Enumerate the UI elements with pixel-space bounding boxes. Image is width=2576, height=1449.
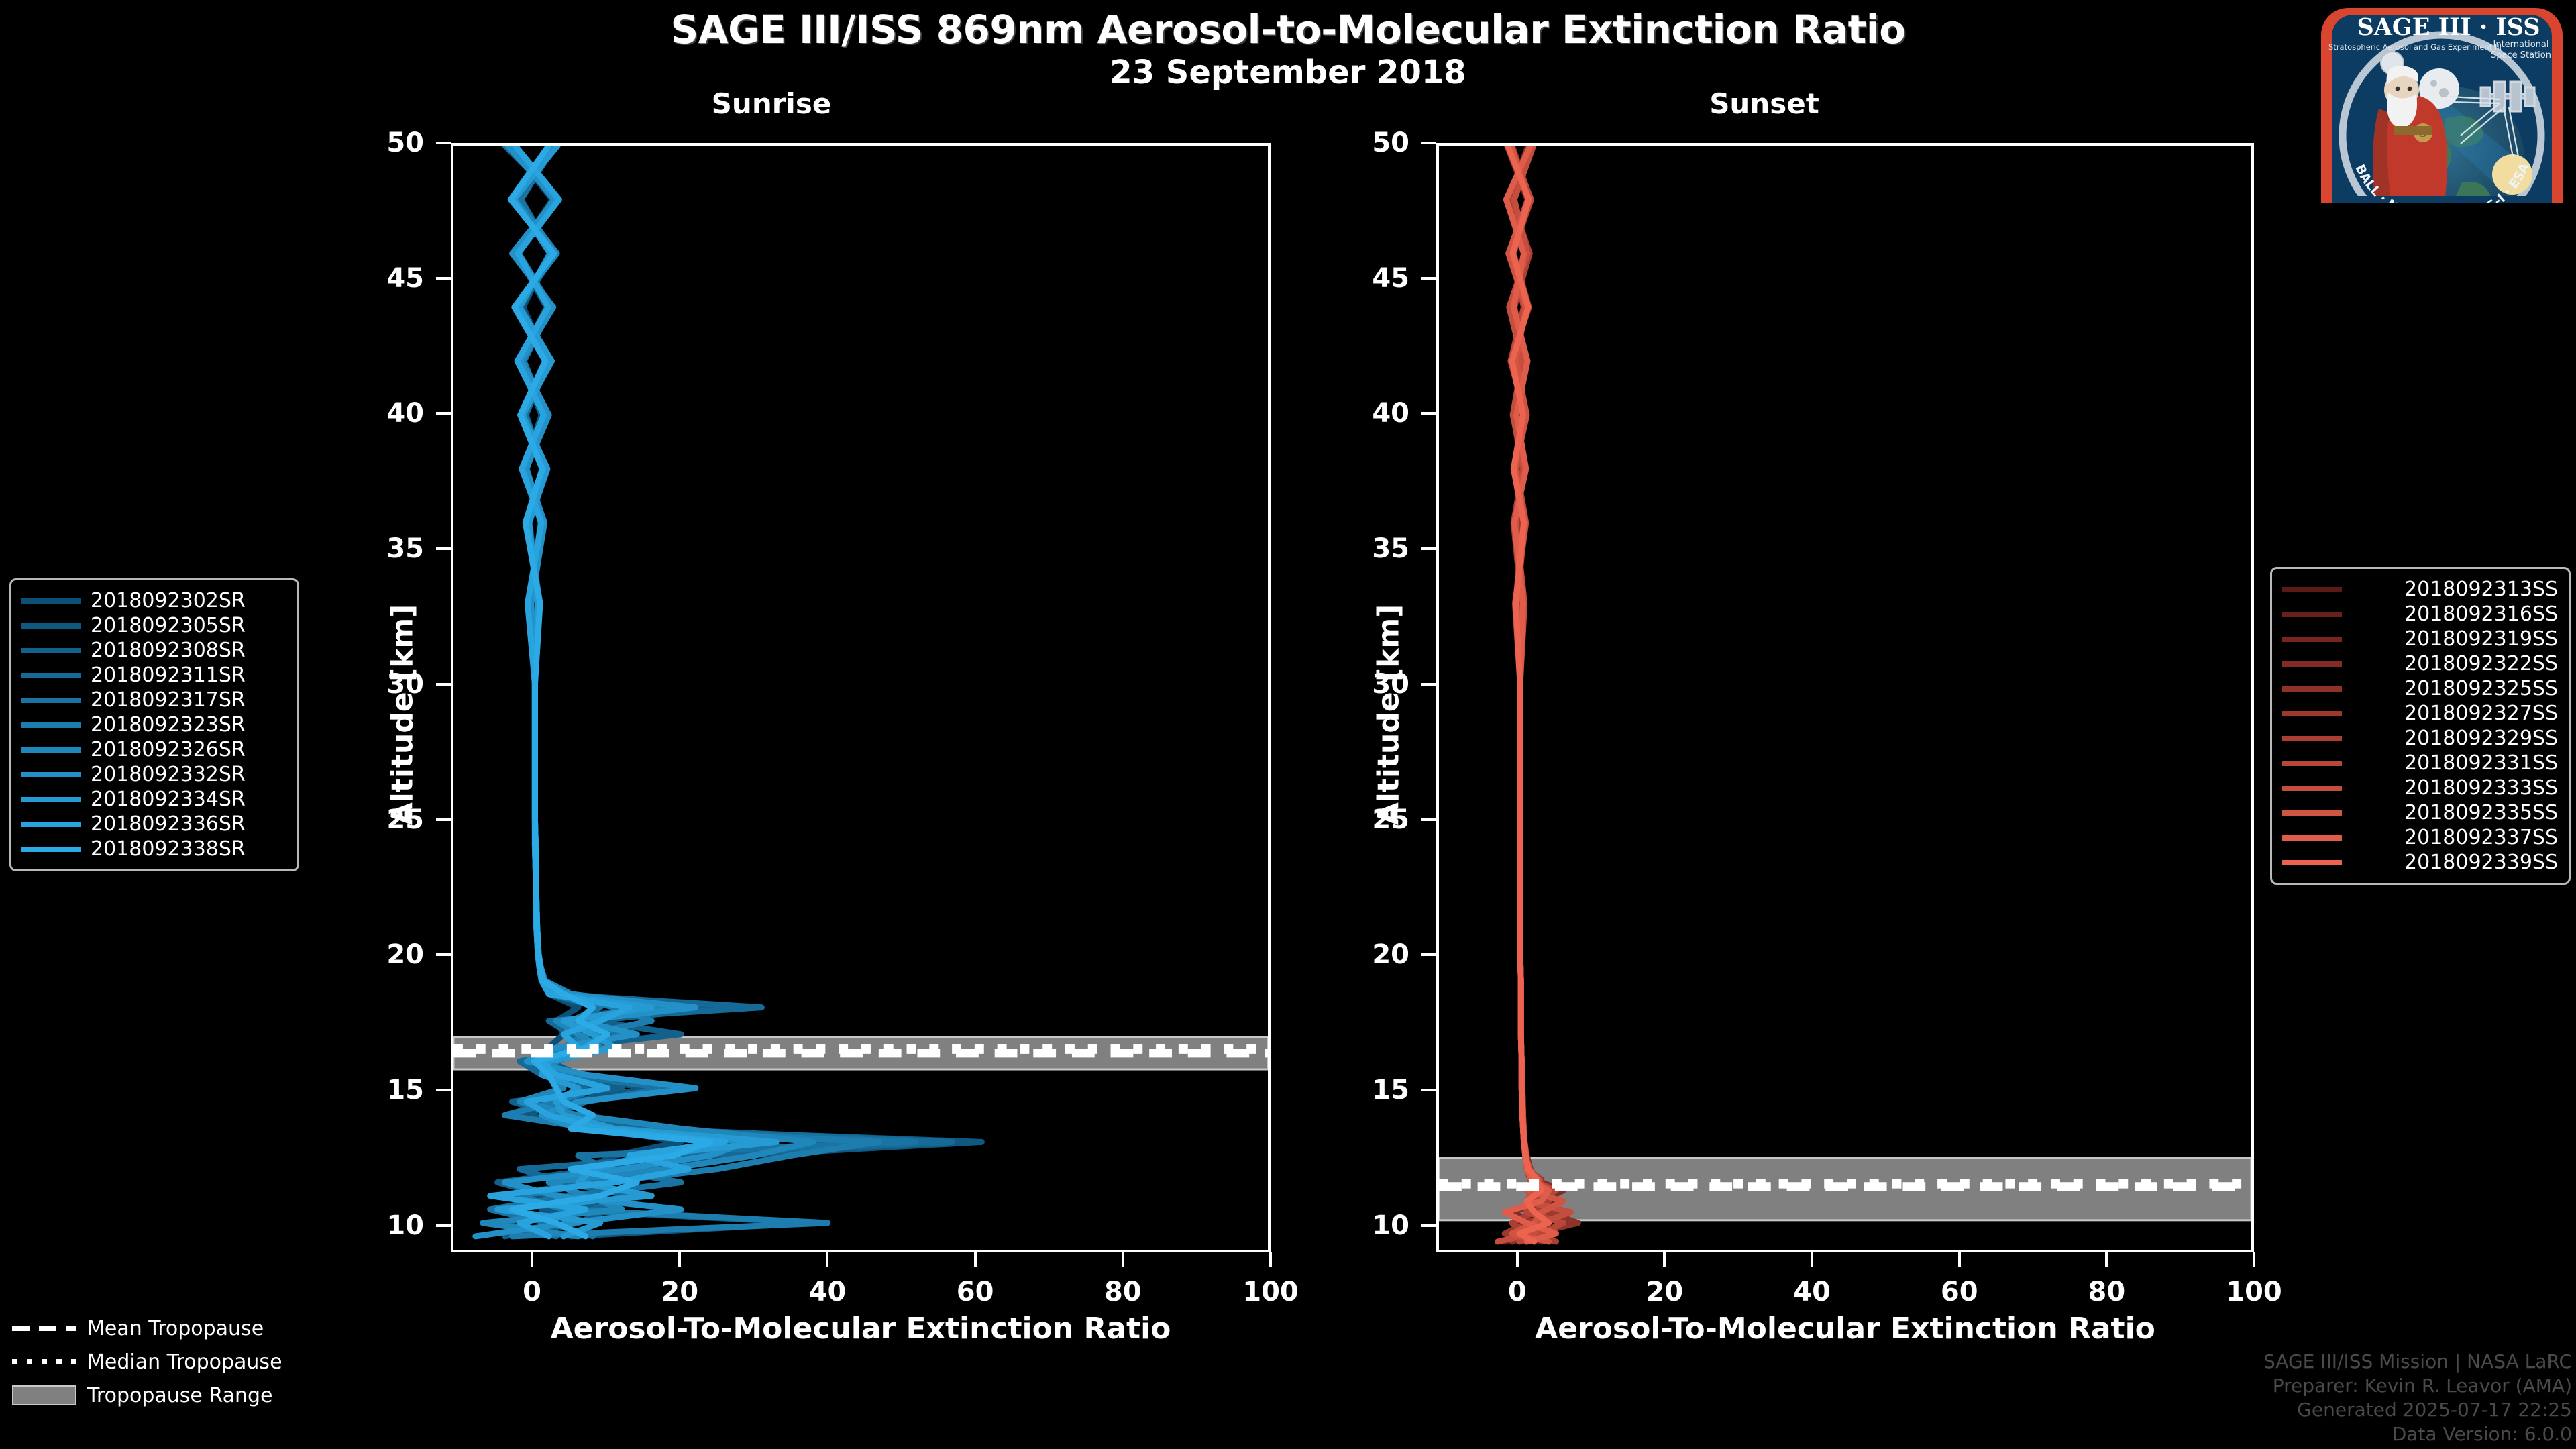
legend-item-label: 2018092311SR — [91, 663, 286, 687]
legend-item[interactable]: 2018092316SS — [2282, 602, 2558, 627]
legend-color-swatch — [2282, 587, 2342, 592]
median-tropopause-label: Median Tropopause — [87, 1350, 282, 1374]
legend-item-label: 2018092327SS — [2351, 702, 2558, 725]
x-tick-mark — [1811, 1252, 1813, 1267]
y-tick-label: 20 — [323, 939, 424, 970]
figure-subtitle: 23 September 2018 — [0, 54, 2576, 91]
legend-item-label: 2018092326SR — [91, 738, 286, 761]
legend-item[interactable]: 2018092333SS — [2282, 775, 2558, 800]
legend-color-swatch — [2282, 612, 2342, 617]
y-tick-mark — [436, 277, 451, 280]
legend-item[interactable]: 2018092302SR — [21, 588, 286, 613]
legend-item[interactable]: 2018092308SR — [21, 638, 286, 663]
x-tick-label: 40 — [809, 1277, 847, 1307]
y-tick-label: 50 — [1309, 127, 1409, 158]
y-tick-mark — [436, 1089, 451, 1091]
figure-root: SAGE III/ISS 869nm Aerosol-to-Molecular … — [0, 0, 2576, 1449]
credits-line-2: Preparer: Kevin R. Leavor (AMA) — [2263, 1374, 2572, 1398]
legend-color-swatch — [21, 822, 81, 827]
credits-line-3: Generated 2025-07-17 22:25 — [2263, 1398, 2572, 1422]
logo-subtitle-right-2: Space Station — [2491, 50, 2551, 60]
y-tick-mark — [436, 547, 451, 550]
y-tick-mark — [1421, 412, 1436, 415]
legend-item[interactable]: 2018092337SS — [2282, 825, 2558, 850]
legend-item-label: 2018092302SR — [91, 589, 286, 612]
y-tick-mark — [1421, 1224, 1436, 1227]
legend-item-label: 2018092337SS — [2351, 826, 2558, 849]
logo-subtitle-right-1: International — [2493, 40, 2549, 50]
legend-item[interactable]: 2018092317SR — [21, 688, 286, 712]
legend-item-label: 2018092325SS — [2351, 677, 2558, 700]
tropopause-range-label: Tropopause Range — [87, 1384, 273, 1407]
legend-item[interactable]: 2018092336SR — [21, 812, 286, 837]
x-tick-label: 20 — [1646, 1277, 1684, 1307]
x-tick-mark — [1122, 1252, 1124, 1267]
legend-item-label: 2018092339SS — [2351, 851, 2558, 874]
y-tick-mark — [1421, 818, 1436, 821]
legend-item[interactable]: 2018092313SS — [2282, 577, 2558, 602]
tropopause-legend: Mean Tropopause Median Tropopause Tropop… — [12, 1311, 361, 1412]
legend-item-label: 2018092323SR — [91, 713, 286, 737]
legend-item[interactable]: 2018092329SS — [2282, 726, 2558, 751]
legend-color-swatch — [2282, 835, 2342, 841]
legend-item[interactable]: 2018092325SS — [2282, 676, 2558, 701]
sunset-plot-area[interactable] — [1436, 143, 2254, 1252]
legend-color-swatch — [21, 797, 81, 802]
y-tick-label: 10 — [323, 1210, 424, 1241]
panel-title-sunset: Sunset — [1684, 87, 1845, 120]
y-tick-mark — [1421, 953, 1436, 956]
legend-item[interactable]: 2018092319SS — [2282, 627, 2558, 651]
x-tick-mark — [2105, 1252, 2108, 1267]
sunset-series-legend[interactable]: 2018092313SS2018092316SS2018092319SS2018… — [2270, 567, 2571, 885]
legend-item-label: 2018092313SS — [2351, 578, 2558, 601]
y-tick-mark — [436, 683, 451, 686]
x-tick-label: 80 — [2088, 1277, 2126, 1307]
legend-item-label: 2018092316SS — [2351, 602, 2558, 626]
x-tick-label: 100 — [1242, 1277, 1299, 1307]
legend-item-label: 2018092319SS — [2351, 627, 2558, 651]
y-tick-label: 35 — [1309, 533, 1409, 564]
y-tick-label: 15 — [323, 1075, 424, 1106]
x-tick-label: 60 — [957, 1277, 994, 1307]
legend-item[interactable]: 2018092326SR — [21, 737, 286, 762]
sunrise-x-axis-label: Aerosol-To-Molecular Extinction Ratio — [451, 1311, 1271, 1346]
logo-subtitle-left: Stratospheric Aerosol and Gas Experiment… — [2328, 42, 2502, 52]
legend-item-label: 2018092322SS — [2351, 652, 2558, 676]
legend-color-swatch — [2282, 860, 2342, 865]
legend-color-swatch — [2282, 661, 2342, 667]
legend-item-label: 2018092338SR — [91, 837, 286, 861]
y-tick-mark — [436, 818, 451, 821]
x-tick-mark — [1516, 1252, 1519, 1267]
series-line — [505, 146, 879, 1236]
x-tick-label: 100 — [2226, 1277, 2282, 1307]
legend-color-swatch — [21, 698, 81, 703]
y-tick-label: 15 — [1309, 1075, 1409, 1106]
figure-title: SAGE III/ISS 869nm Aerosol-to-Molecular … — [0, 7, 2576, 52]
panel-title-sunrise: Sunrise — [691, 87, 852, 120]
legend-item[interactable]: 2018092323SR — [21, 712, 286, 737]
legend-item[interactable]: 2018092334SR — [21, 787, 286, 812]
legend-color-swatch — [21, 722, 81, 728]
y-tick-label: 40 — [1309, 398, 1409, 429]
sunrise-plot-area[interactable] — [451, 143, 1271, 1252]
legend-item[interactable]: 2018092332SR — [21, 762, 286, 787]
legend-item[interactable]: 2018092338SR — [21, 837, 286, 861]
credits-block: SAGE III/ISS Mission | NASA LaRC Prepare… — [2263, 1350, 2572, 1446]
y-tick-label: 35 — [323, 533, 424, 564]
dotted-line-icon — [12, 1353, 76, 1371]
sunrise-series-legend[interactable]: 2018092302SR2018092305SR2018092308SR2018… — [9, 578, 299, 871]
x-tick-mark — [678, 1252, 681, 1267]
legend-item[interactable]: 2018092311SR — [21, 663, 286, 688]
logo-title: SAGE III · ISS — [2357, 13, 2540, 41]
legend-color-swatch — [2282, 786, 2342, 791]
x-tick-label: 80 — [1104, 1277, 1142, 1307]
filled-band-icon — [12, 1387, 76, 1404]
legend-row-mean-tropopause: Mean Tropopause — [12, 1311, 361, 1345]
legend-item-label: 2018092334SR — [91, 788, 286, 811]
x-tick-mark — [1958, 1252, 1961, 1267]
legend-item[interactable]: 2018092339SS — [2282, 850, 2558, 875]
legend-item-label: 2018092308SR — [91, 639, 286, 662]
legend-row-tropopause-range: Tropopause Range — [12, 1379, 361, 1412]
legend-color-swatch — [21, 772, 81, 777]
x-tick-mark — [2253, 1252, 2255, 1267]
sage-iii-iss-logo: S SAGE III · ISS Stratospheric Aerosol a… — [2308, 1, 2576, 203]
legend-item[interactable]: 2018092322SS — [2282, 651, 2558, 676]
legend-item[interactable]: 2018092335SS — [2282, 800, 2558, 825]
legend-item-label: 2018092331SS — [2351, 751, 2558, 775]
y-tick-label: 10 — [1309, 1210, 1409, 1241]
y-tick-mark — [436, 412, 451, 415]
legend-color-swatch — [2282, 761, 2342, 766]
y-tick-mark — [1421, 142, 1436, 144]
legend-color-swatch — [21, 623, 81, 629]
legend-color-swatch — [2282, 736, 2342, 741]
legend-item[interactable]: 2018092327SS — [2282, 701, 2558, 726]
series-line — [1497, 146, 1570, 1242]
legend-item[interactable]: 2018092331SS — [2282, 751, 2558, 775]
x-tick-mark — [1663, 1252, 1666, 1267]
legend-item[interactable]: 2018092305SR — [21, 613, 286, 638]
legend-item-label: 2018092336SR — [91, 812, 286, 836]
legend-item-label: 2018092333SS — [2351, 776, 2558, 800]
legend-row-median-tropopause: Median Tropopause — [12, 1345, 361, 1379]
y-tick-mark — [436, 142, 451, 144]
y-tick-label: 50 — [323, 127, 424, 158]
legend-color-swatch — [2282, 711, 2342, 716]
y-tick-mark — [1421, 683, 1436, 686]
legend-item-label: 2018092335SS — [2351, 801, 2558, 824]
x-tick-label: 0 — [1508, 1277, 1527, 1307]
x-tick-mark — [826, 1252, 828, 1267]
credits-line-4: Data Version: 6.0.0 — [2263, 1422, 2572, 1446]
legend-color-swatch — [2282, 637, 2342, 642]
x-tick-label: 60 — [1941, 1277, 1978, 1307]
x-tick-label: 20 — [661, 1277, 698, 1307]
legend-color-swatch — [21, 847, 81, 852]
x-tick-mark — [531, 1252, 533, 1267]
legend-color-swatch — [21, 747, 81, 753]
y-tick-label: 45 — [1309, 263, 1409, 294]
x-tick-label: 40 — [1793, 1277, 1831, 1307]
legend-color-swatch — [2282, 810, 2342, 816]
sunset-x-axis-label: Aerosol-To-Molecular Extinction Ratio — [1436, 1311, 2254, 1346]
legend-color-swatch — [2282, 686, 2342, 692]
y-tick-label: 40 — [323, 398, 424, 429]
credits-line-1: SAGE III/ISS Mission | NASA LaRC — [2263, 1350, 2572, 1374]
legend-item-label: 2018092332SR — [91, 763, 286, 786]
y-tick-label: 20 — [1309, 939, 1409, 970]
y-tick-mark — [1421, 1089, 1436, 1091]
mean-tropopause-label: Mean Tropopause — [87, 1317, 264, 1340]
legend-item-label: 2018092317SR — [91, 688, 286, 712]
y-tick-mark — [436, 1224, 451, 1227]
y-tick-mark — [1421, 277, 1436, 280]
dashed-line-icon — [12, 1320, 76, 1337]
y-tick-label: 45 — [323, 263, 424, 294]
y-tick-mark — [1421, 547, 1436, 550]
legend-item-label: 2018092305SR — [91, 614, 286, 637]
x-tick-mark — [974, 1252, 977, 1267]
legend-color-swatch — [21, 648, 81, 653]
sunrise-y-axis-label: Altitude [km] — [386, 581, 420, 849]
legend-item-label: 2018092329SS — [2351, 727, 2558, 750]
y-tick-mark — [436, 953, 451, 956]
x-tick-mark — [1269, 1252, 1272, 1267]
legend-color-swatch — [21, 673, 81, 678]
legend-color-swatch — [21, 598, 81, 604]
x-tick-label: 0 — [523, 1277, 541, 1307]
sunset-y-axis-label: Altitude [km] — [1372, 581, 1406, 849]
series-line — [498, 146, 777, 1236]
